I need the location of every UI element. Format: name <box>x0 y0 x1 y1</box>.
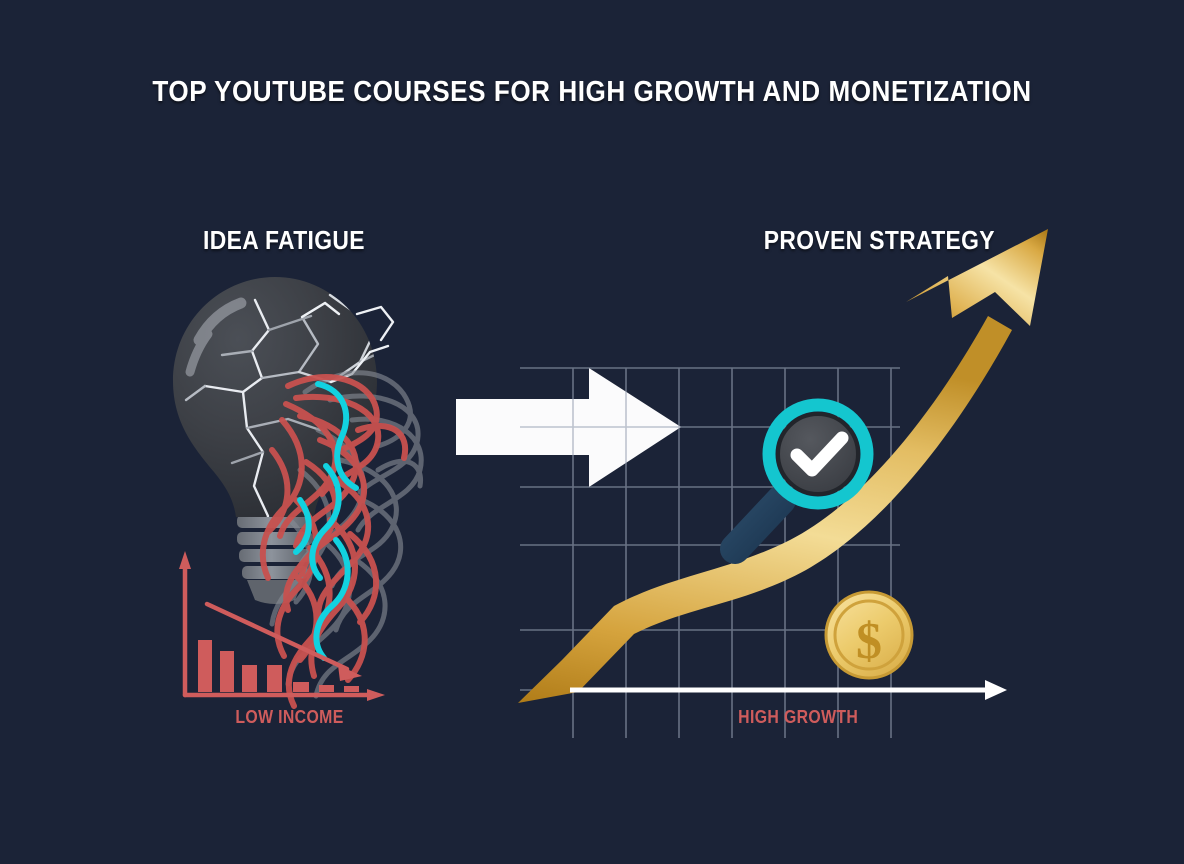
declining-bar-chart <box>0 0 1184 864</box>
coin-body <box>826 592 912 678</box>
page-title: TOP YOUTUBE COURSES FOR HIGH GROWTH AND … <box>59 76 1125 109</box>
right-arrow-icon <box>456 368 681 487</box>
magnifier-lens <box>778 414 858 494</box>
coin-symbol: $ <box>856 613 882 670</box>
bulb-highlight <box>190 303 241 372</box>
magnifier-handle <box>735 500 781 549</box>
bar-3 <box>242 665 257 692</box>
axis-arrowhead <box>985 680 1007 700</box>
bulb-glass <box>173 277 377 517</box>
bar-4 <box>267 665 282 692</box>
transition-arrow <box>0 0 1184 864</box>
infographic-canvas: TOP YOUTUBE COURSES FOR HIGH GROWTH AND … <box>0 0 1184 864</box>
magnifier-check-icon <box>0 0 1184 864</box>
broken-lightbulb-illustration <box>0 0 1184 864</box>
bar-chart-bars <box>198 640 359 692</box>
bar-2 <box>220 651 234 692</box>
horizontal-axis-arrow <box>0 0 1184 864</box>
gold-growth-arrow <box>0 0 1184 864</box>
grid-lines <box>520 368 900 738</box>
x-axis-arrowhead <box>367 689 385 701</box>
wire-strands-gray <box>272 373 421 696</box>
bar-1 <box>198 640 212 692</box>
wire-strands-red <box>263 377 405 706</box>
bar-6 <box>319 685 334 692</box>
tangled-wires-illustration <box>0 0 1184 864</box>
coin-inner-ring <box>835 601 903 669</box>
bulb-cracks <box>186 295 385 556</box>
bar-5 <box>293 682 309 692</box>
magnifier-ring <box>769 405 867 503</box>
bulb-shards <box>302 303 393 382</box>
dollar-coin-icon: $ <box>0 0 1184 864</box>
growth-chart-grid <box>0 0 1184 864</box>
growth-curve-band <box>518 316 1012 703</box>
bulb-screw-base <box>237 515 313 604</box>
bar-chart-trend-arrow <box>207 604 362 681</box>
wire-strands-cyan <box>296 384 356 658</box>
caption-high-growth: HIGH GROWTH <box>738 707 858 728</box>
caption-low-income: LOW INCOME <box>235 707 343 728</box>
bar-7 <box>344 686 359 692</box>
section-heading-idea-fatigue: IDEA FATIGUE <box>203 225 365 256</box>
check-icon <box>797 438 842 470</box>
section-heading-proven-strategy: PROVEN STRATEGY <box>764 225 995 256</box>
y-axis-arrowhead <box>179 551 191 569</box>
bar-chart-axes <box>185 566 372 695</box>
